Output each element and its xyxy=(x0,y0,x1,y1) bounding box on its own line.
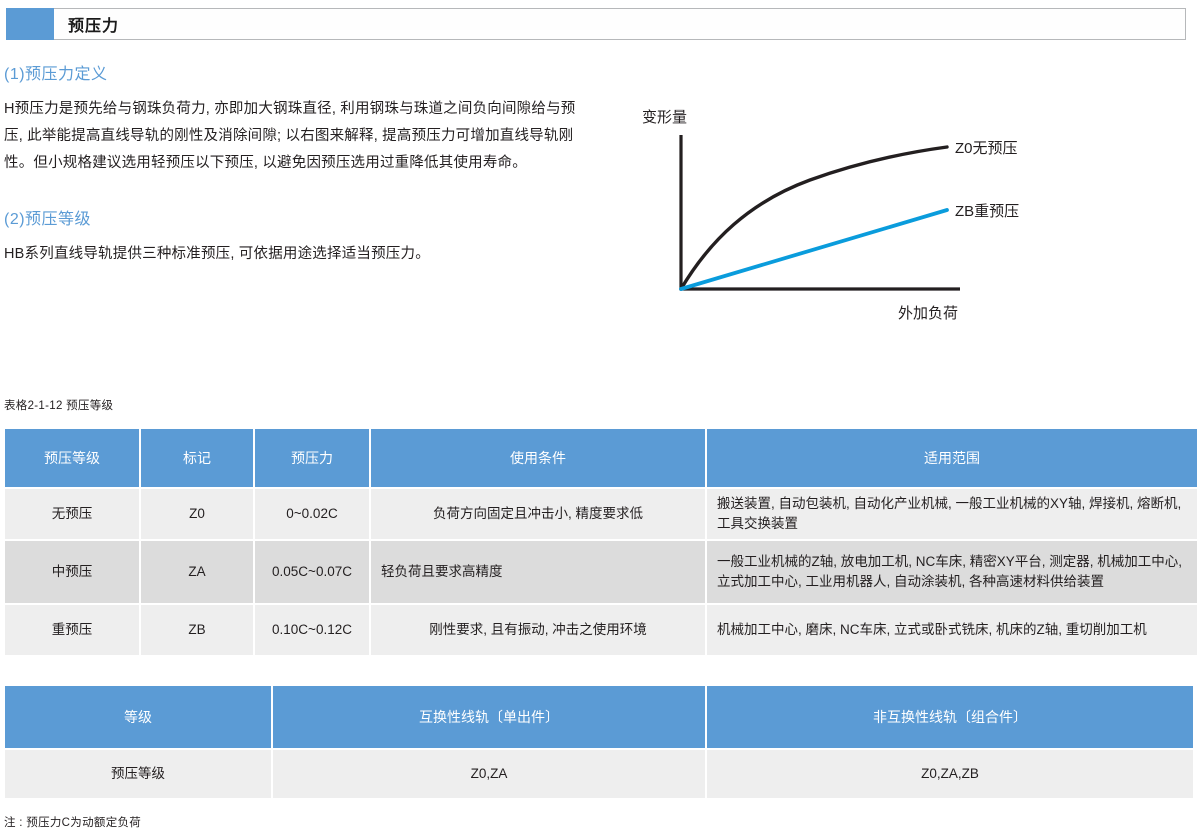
cell-interchangeable: Z0,ZA xyxy=(273,750,705,798)
table-row: 中预压 ZA 0.05C~0.07C 轻负荷且要求高精度 一般工业机械的Z轴, … xyxy=(5,541,1197,603)
cell-condition: 轻负荷且要求高精度 xyxy=(371,541,705,603)
table1-col-mark: 标记 xyxy=(141,429,253,487)
footnote: 注 : 预压力C为动额定负荷 xyxy=(4,814,141,830)
table1-caption: 表格2-1-12 预压等级 xyxy=(4,397,113,413)
chart-svg: 变形量 Z0无预压 ZB重预压 外加负荷 xyxy=(600,90,1200,340)
text-column: (1)预压力定义 H预压力是预先给与钢珠负荷力, 亦即加大钢珠直径, 利用钢珠与… xyxy=(4,60,594,268)
cell-grade: 重预压 xyxy=(5,605,139,655)
cell-force: 0~0.02C xyxy=(255,489,369,539)
interchangeability-grade-table: 等级 互换性线轨〔单出件〕 非互换性线轨〔组合件〕 预压等级 Z0,ZA Z0,… xyxy=(3,684,1195,800)
table1-col-application: 适用范围 xyxy=(707,429,1197,487)
preload-grade-table: 预压等级 标记 预压力 使用条件 适用范围 无预压 Z0 0~0.02C 负荷方… xyxy=(3,427,1199,657)
cell-condition: 负荷方向固定且冲击小, 精度要求低 xyxy=(371,489,705,539)
cell-mark: ZB xyxy=(141,605,253,655)
cell-grade-label: 预压等级 xyxy=(5,750,271,798)
chart-series-z0-curve xyxy=(681,147,947,289)
cell-grade: 无预压 xyxy=(5,489,139,539)
page-title: 预压力 xyxy=(68,12,119,36)
table-row: 预压等级 Z0,ZA Z0,ZA,ZB xyxy=(5,750,1193,798)
accent-swatch xyxy=(6,8,54,40)
chart-legend-z0: Z0无预压 xyxy=(955,140,1018,157)
table1-header-row: 预压等级 标记 预压力 使用条件 适用范围 xyxy=(5,429,1197,487)
page-title-bar: 预压力 xyxy=(6,8,1186,40)
page-title-box: 预压力 xyxy=(54,8,1186,40)
table-row: 重预压 ZB 0.10C~0.12C 刚性要求, 且有振动, 冲击之使用环境 机… xyxy=(5,605,1197,655)
page-root: 预压力 (1)预压力定义 H预压力是预先给与钢珠负荷力, 亦即加大钢珠直径, 利… xyxy=(0,0,1200,837)
cell-grade: 中预压 xyxy=(5,541,139,603)
cell-force: 0.05C~0.07C xyxy=(255,541,369,603)
section-paragraph-definition: H预压力是预先给与钢珠负荷力, 亦即加大钢珠直径, 利用钢珠与珠道之间负向间隙给… xyxy=(4,96,594,177)
cell-condition: 刚性要求, 且有振动, 冲击之使用环境 xyxy=(371,605,705,655)
table1-col-force: 预压力 xyxy=(255,429,369,487)
preload-deformation-chart: 变形量 Z0无预压 ZB重预压 外加负荷 xyxy=(600,90,1200,340)
chart-y-axis-label: 变形量 xyxy=(642,109,687,126)
cell-force: 0.10C~0.12C xyxy=(255,605,369,655)
section-heading-grades: (2)预压等级 xyxy=(4,205,594,229)
table2-header-row: 等级 互换性线轨〔单出件〕 非互换性线轨〔组合件〕 xyxy=(5,686,1193,748)
section-paragraph-grades: HB系列直线导轨提供三种标准预压, 可依据用途选择适当预压力。 xyxy=(4,241,594,268)
cell-mark: Z0 xyxy=(141,489,253,539)
cell-application: 机械加工中心, 磨床, NC车床, 立式或卧式铣床, 机床的Z轴, 重切削加工机 xyxy=(707,605,1197,655)
chart-series-zb-curve xyxy=(681,210,947,289)
table2-col-noninterchangeable: 非互换性线轨〔组合件〕 xyxy=(707,686,1193,748)
chart-legend-zb: ZB重预压 xyxy=(955,203,1019,220)
table2-col-grade: 等级 xyxy=(5,686,271,748)
cell-non-interchangeable: Z0,ZA,ZB xyxy=(707,750,1193,798)
section-heading-definition: (1)预压力定义 xyxy=(4,60,594,84)
chart-x-axis-label: 外加负荷 xyxy=(898,305,958,322)
table2-col-interchangeable: 互换性线轨〔单出件〕 xyxy=(273,686,705,748)
cell-mark: ZA xyxy=(141,541,253,603)
table-row: 无预压 Z0 0~0.02C 负荷方向固定且冲击小, 精度要求低 搬送装置, 自… xyxy=(5,489,1197,539)
table1-col-grade: 预压等级 xyxy=(5,429,139,487)
cell-application: 搬送装置, 自动包装机, 自动化产业机械, 一般工业机械的XY轴, 焊接机, 熔… xyxy=(707,489,1197,539)
table1-col-condition: 使用条件 xyxy=(371,429,705,487)
cell-application: 一般工业机械的Z轴, 放电加工机, NC车床, 精密XY平台, 测定器, 机械加… xyxy=(707,541,1197,603)
